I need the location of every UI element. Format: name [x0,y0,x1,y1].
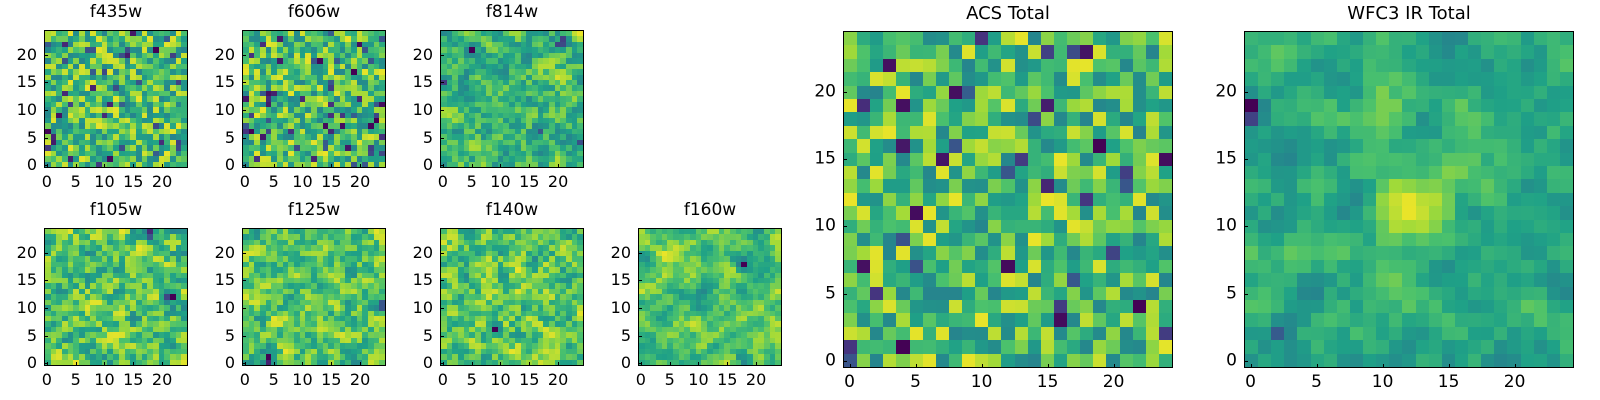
y-tick-label-f105w-20: 20 [0,245,37,261]
x-tick-f140w-20 [558,362,559,366]
x-tick-f140w-15 [529,362,530,366]
y-tick-label-f606w-0: 0 [196,157,235,173]
y-tick-f125w-10 [242,308,246,309]
x-tick-label-f814w-15: 15 [519,174,539,190]
y-tick-f160w-0 [638,363,642,364]
y-tick-label-f814w-10: 10 [394,102,433,118]
x-tick-label-acs-total-10: 10 [971,374,993,391]
y-tick-f105w-10 [44,308,48,309]
x-tick-label-f435w-20: 20 [152,174,172,190]
x-tick-label-f606w-0: 0 [240,174,250,190]
x-tick-label-f140w-15: 15 [519,372,539,388]
y-tick-label-f814w-20: 20 [394,47,433,63]
x-tick-f160w-20 [756,362,757,366]
x-tick-label-acs-total-20: 20 [1103,374,1125,391]
x-tick-label-f435w-5: 5 [71,174,81,190]
y-tick-wfc3-ir-total-0 [1244,361,1248,362]
y-tick-f105w-5 [44,336,48,337]
y-tick-label-wfc3-ir-total-20: 20 [1198,83,1237,100]
y-tick-acs-total-0 [843,361,847,362]
y-tick-label-f160w-0: 0 [592,355,631,371]
x-tick-wfc3-ir-total-5 [1317,364,1318,368]
x-tick-label-f814w-10: 10 [490,174,510,190]
x-tick-label-f160w-15: 15 [717,372,737,388]
y-tick-f140w-20 [440,253,444,254]
x-tick-label-f105w-15: 15 [123,372,143,388]
y-tick-label-wfc3-ir-total-15: 15 [1198,151,1237,168]
y-tick-f606w-20 [242,55,246,56]
x-tick-label-f140w-20: 20 [548,372,568,388]
y-tick-label-f140w-10: 10 [394,300,433,316]
x-tick-f125w-5 [274,362,275,366]
y-tick-label-f140w-5: 5 [394,328,433,344]
x-tick-label-f160w-0: 0 [636,372,646,388]
x-tick-label-acs-total-15: 15 [1037,374,1059,391]
y-tick-label-f140w-20: 20 [394,245,433,261]
x-tick-label-f125w-15: 15 [321,372,341,388]
y-tick-label-f814w-5: 5 [394,130,433,146]
panel-f105w: f105w0510152005101520 [0,202,188,392]
y-tick-label-f160w-20: 20 [592,245,631,261]
x-tick-f160w-5 [670,362,671,366]
y-tick-f160w-10 [638,308,642,309]
x-tick-f140w-5 [472,362,473,366]
y-tick-label-acs-total-0: 0 [797,353,836,370]
x-tick-f125w-15 [331,362,332,366]
y-tick-label-f160w-5: 5 [592,328,631,344]
y-tick-label-f814w-15: 15 [394,74,433,90]
x-tick-f160w-10 [698,362,699,366]
heatmap-axes-f140w [440,228,584,366]
x-tick-f160w-15 [727,362,728,366]
panel-title-f125w: f125w [242,202,386,219]
x-tick-label-wfc3-ir-total-15: 15 [1438,374,1460,391]
y-tick-wfc3-ir-total-20 [1244,92,1248,93]
y-tick-label-wfc3-ir-total-0: 0 [1198,353,1237,370]
y-tick-f606w-0 [242,165,246,166]
x-tick-label-wfc3-ir-total-20: 20 [1504,374,1526,391]
x-tick-f125w-10 [302,362,303,366]
heatmap-axes-f105w [44,228,188,366]
y-tick-label-acs-total-15: 15 [797,151,836,168]
y-tick-label-f105w-0: 0 [0,355,37,371]
y-tick-f105w-15 [44,280,48,281]
y-tick-label-f435w-15: 15 [0,74,37,90]
y-tick-acs-total-20 [843,92,847,93]
y-tick-acs-total-15 [843,159,847,160]
heatmap-cells-f105w [45,229,187,365]
y-tick-label-f140w-0: 0 [394,355,433,371]
y-tick-label-f435w-10: 10 [0,102,37,118]
y-tick-f125w-20 [242,253,246,254]
y-tick-f435w-15 [44,82,48,83]
heatmap-cells-f435w [45,31,187,167]
heatmap-axes-acs-total [843,31,1173,368]
panel-title-acs-total: ACS Total [843,5,1173,23]
x-tick-wfc3-ir-total-15 [1449,364,1450,368]
x-tick-label-wfc3-ir-total-0: 0 [1245,374,1256,391]
x-tick-label-f140w-10: 10 [490,372,510,388]
y-tick-label-f606w-5: 5 [196,130,235,146]
x-tick-label-acs-total-0: 0 [844,374,855,391]
y-tick-label-f125w-15: 15 [196,272,235,288]
y-tick-f814w-10 [440,110,444,111]
heatmap-cells-f125w [243,229,385,365]
x-tick-label-f606w-5: 5 [269,174,279,190]
y-tick-label-f435w-20: 20 [0,47,37,63]
x-tick-wfc3-ir-total-10 [1383,364,1384,368]
x-tick-label-wfc3-ir-total-5: 5 [1311,374,1322,391]
y-tick-f105w-0 [44,363,48,364]
heatmap-cells-f814w [441,31,583,167]
y-tick-f160w-20 [638,253,642,254]
panel-f125w: f125w0510152005101520 [196,202,386,392]
y-tick-wfc3-ir-total-10 [1244,226,1248,227]
y-tick-label-f125w-10: 10 [196,300,235,316]
y-tick-f105w-20 [44,253,48,254]
x-tick-label-f606w-20: 20 [350,174,370,190]
y-tick-f814w-15 [440,82,444,83]
x-tick-wfc3-ir-total-0 [1251,364,1252,368]
x-tick-label-f814w-20: 20 [548,174,568,190]
x-tick-label-f435w-15: 15 [123,174,143,190]
y-tick-label-f435w-5: 5 [0,130,37,146]
panel-f435w: f435w0510152005101520 [0,4,188,194]
y-tick-label-f105w-15: 15 [0,272,37,288]
panel-title-f105w: f105w [44,202,188,219]
x-tick-f435w-20 [162,164,163,168]
x-tick-f814w-15 [529,164,530,168]
y-tick-label-acs-total-10: 10 [797,218,836,235]
x-tick-label-wfc3-ir-total-10: 10 [1372,374,1394,391]
x-tick-f606w-20 [360,164,361,168]
y-tick-label-f814w-0: 0 [394,157,433,173]
x-tick-f606w-5 [274,164,275,168]
x-tick-acs-total-5 [916,364,917,368]
x-tick-label-f140w-0: 0 [438,372,448,388]
y-tick-f140w-10 [440,308,444,309]
x-tick-f814w-10 [500,164,501,168]
panel-title-f140w: f140w [440,202,584,219]
x-tick-acs-total-10 [982,364,983,368]
y-tick-f160w-15 [638,280,642,281]
y-tick-label-f125w-5: 5 [196,328,235,344]
x-tick-label-f105w-5: 5 [71,372,81,388]
y-tick-label-acs-total-5: 5 [797,285,836,302]
x-tick-label-f160w-5: 5 [665,372,675,388]
x-tick-label-f105w-0: 0 [42,372,52,388]
y-tick-f814w-0 [440,165,444,166]
x-tick-label-f105w-10: 10 [94,372,114,388]
y-tick-label-f606w-10: 10 [196,102,235,118]
y-tick-label-f105w-5: 5 [0,328,37,344]
heatmap-axes-f435w [44,30,188,168]
panel-f606w: f606w0510152005101520 [196,4,386,194]
y-tick-label-f125w-0: 0 [196,355,235,371]
x-tick-f435w-15 [133,164,134,168]
y-tick-f606w-5 [242,138,246,139]
panel-wfc3-ir-total: WFC3 IR Total0510152005101520 [1198,5,1574,394]
x-tick-label-acs-total-5: 5 [910,374,921,391]
y-tick-label-f125w-20: 20 [196,245,235,261]
heatmap-axes-f814w [440,30,584,168]
panel-title-f435w: f435w [44,4,188,21]
x-tick-label-f435w-0: 0 [42,174,52,190]
x-tick-label-f125w-5: 5 [269,372,279,388]
y-tick-f140w-15 [440,280,444,281]
y-tick-f435w-0 [44,165,48,166]
heatmap-axes-wfc3-ir-total [1244,31,1574,368]
x-tick-f105w-5 [76,362,77,366]
heatmap-cells-f160w [639,229,781,365]
panel-f814w: f814w0510152005101520 [394,4,584,194]
y-tick-f435w-20 [44,55,48,56]
x-tick-label-f606w-10: 10 [292,174,312,190]
panel-f140w: f140w0510152005101520 [394,202,584,392]
x-tick-f140w-10 [500,362,501,366]
x-tick-label-f435w-10: 10 [94,174,114,190]
y-tick-f814w-5 [440,138,444,139]
x-tick-label-f125w-0: 0 [240,372,250,388]
x-tick-f606w-15 [331,164,332,168]
x-tick-f814w-20 [558,164,559,168]
x-tick-f606w-10 [302,164,303,168]
heatmap-cells-acs-total [844,32,1172,367]
x-tick-label-f606w-15: 15 [321,174,341,190]
y-tick-label-wfc3-ir-total-5: 5 [1198,285,1237,302]
x-tick-label-f105w-20: 20 [152,372,172,388]
y-tick-wfc3-ir-total-15 [1244,159,1248,160]
y-tick-f814w-20 [440,55,444,56]
heatmap-axes-f160w [638,228,782,366]
heatmap-axes-f125w [242,228,386,366]
panel-title-f606w: f606w [242,4,386,21]
x-tick-label-f814w-5: 5 [467,174,477,190]
panel-acs-total: ACS Total0510152005101520 [797,5,1173,394]
y-tick-f125w-15 [242,280,246,281]
panel-title-f814w: f814w [440,4,584,21]
y-tick-f140w-0 [440,363,444,364]
panel-f160w: f160w0510152005101520 [592,202,782,392]
heatmap-axes-f606w [242,30,386,168]
y-tick-acs-total-5 [843,294,847,295]
y-tick-label-wfc3-ir-total-10: 10 [1198,218,1237,235]
figure-canvas: f435w0510152005101520f606w05101520051015… [0,0,1600,400]
heatmap-cells-f606w [243,31,385,167]
y-tick-label-f606w-15: 15 [196,74,235,90]
x-tick-f814w-5 [472,164,473,168]
y-tick-label-f435w-0: 0 [0,157,37,173]
panel-title-f160w: f160w [638,202,782,219]
y-tick-f140w-5 [440,336,444,337]
heatmap-cells-f140w [441,229,583,365]
y-tick-f125w-5 [242,336,246,337]
y-tick-label-f160w-15: 15 [592,272,631,288]
x-tick-f435w-5 [76,164,77,168]
x-tick-f105w-20 [162,362,163,366]
y-tick-label-f140w-15: 15 [394,272,433,288]
y-tick-f435w-5 [44,138,48,139]
y-tick-f125w-0 [242,363,246,364]
y-tick-f160w-5 [638,336,642,337]
x-tick-acs-total-15 [1048,364,1049,368]
y-tick-label-acs-total-20: 20 [797,83,836,100]
x-tick-acs-total-20 [1114,364,1115,368]
panel-title-wfc3-ir-total: WFC3 IR Total [1244,5,1574,23]
y-tick-wfc3-ir-total-5 [1244,294,1248,295]
x-tick-label-f125w-10: 10 [292,372,312,388]
x-tick-wfc3-ir-total-20 [1515,364,1516,368]
x-tick-label-f160w-10: 10 [688,372,708,388]
x-tick-label-f140w-5: 5 [467,372,477,388]
y-tick-acs-total-10 [843,226,847,227]
y-tick-f435w-10 [44,110,48,111]
y-tick-label-f105w-10: 10 [0,300,37,316]
y-tick-f606w-10 [242,110,246,111]
x-tick-label-f125w-20: 20 [350,372,370,388]
y-tick-label-f160w-10: 10 [592,300,631,316]
y-tick-f606w-15 [242,82,246,83]
x-tick-f105w-15 [133,362,134,366]
x-tick-label-f814w-0: 0 [438,174,448,190]
x-tick-f105w-10 [104,362,105,366]
y-tick-label-f606w-20: 20 [196,47,235,63]
x-tick-f125w-20 [360,362,361,366]
x-tick-acs-total-0 [850,364,851,368]
x-tick-label-f160w-20: 20 [746,372,766,388]
heatmap-cells-wfc3-ir-total [1245,32,1573,367]
x-tick-f435w-10 [104,164,105,168]
